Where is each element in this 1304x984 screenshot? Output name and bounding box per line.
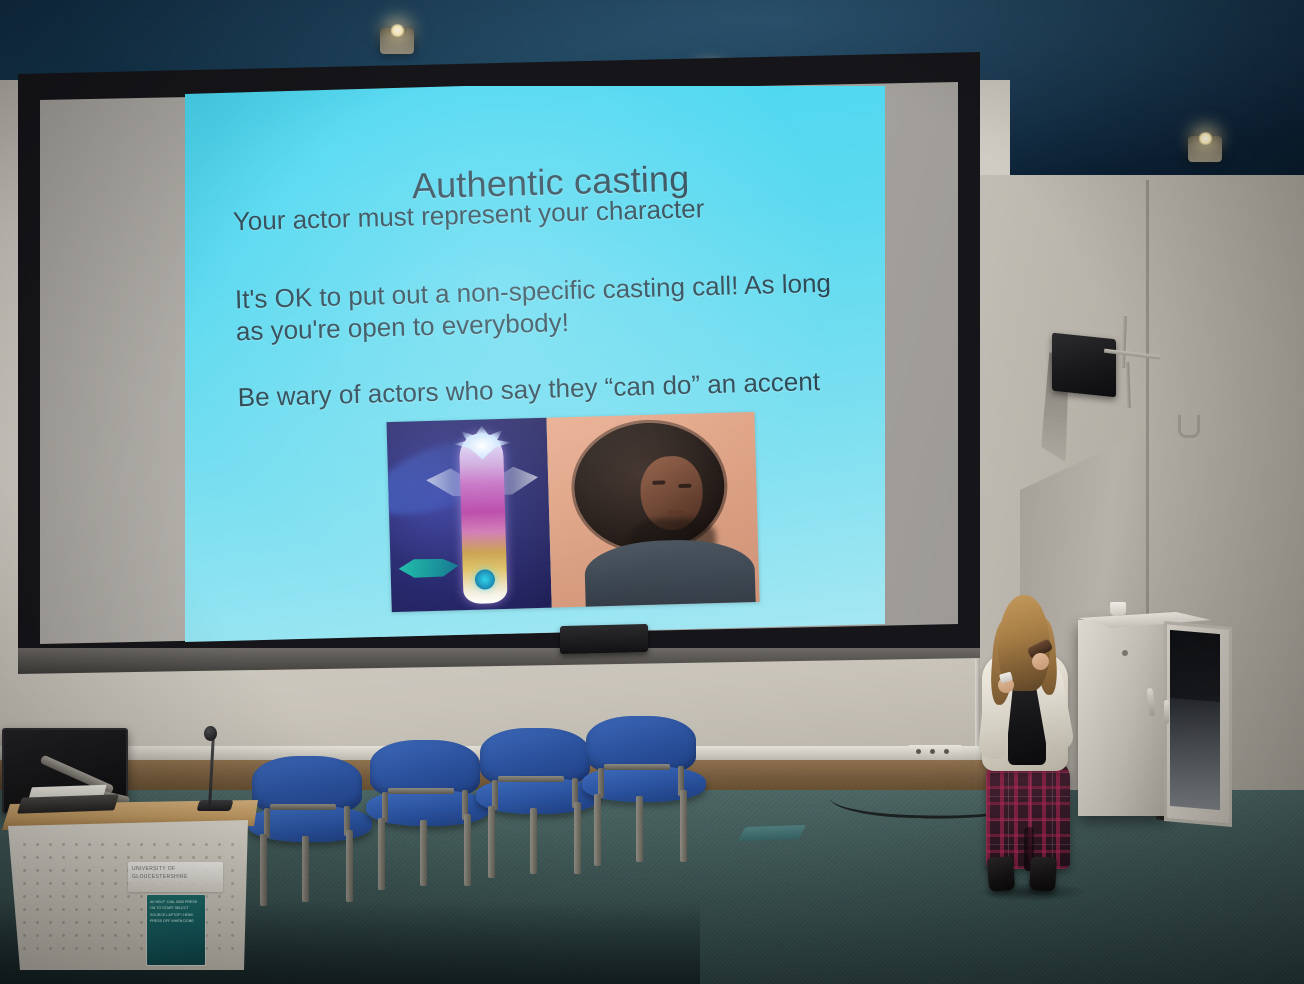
- screen-roller-housing: [560, 624, 648, 654]
- wall-socket: [908, 745, 962, 758]
- slide-image-pair: [387, 412, 760, 612]
- presenter-hand-right: [1032, 653, 1049, 670]
- wall-mounted-speaker: [1052, 333, 1116, 398]
- lecture-theatre-photo: Authentic casting Your actor must repres…: [0, 0, 1304, 984]
- presenter-boot-left: [987, 856, 1015, 892]
- slide-line-2: It's OK to put out a non-specific castin…: [235, 267, 847, 348]
- presenter: [960, 595, 1090, 905]
- presenter-boot-right: [1029, 856, 1057, 891]
- floor-cable-plate: [738, 825, 807, 841]
- cabinet-lock-icon: [1122, 650, 1128, 656]
- actor-portrait-photo: [546, 412, 759, 608]
- cabinet-door-handle[interactable]: [1164, 700, 1169, 724]
- microphone-base: [196, 800, 233, 811]
- microphone-head-icon: [204, 726, 217, 741]
- cabinet-glass-panel: [1170, 630, 1220, 810]
- university-plaque: UNIVERSITY OF GLOUCESTERSHIRE: [128, 862, 223, 892]
- game-character-artwork: [387, 418, 552, 612]
- lecture-podium: [8, 820, 248, 970]
- slide-line-3: Be wary of actors who say they “can do” …: [237, 366, 838, 415]
- wall-hook-icon: [1178, 415, 1200, 438]
- projected-slide: Authentic casting Your actor must repres…: [185, 86, 885, 646]
- spotlight-icon-4: [1188, 132, 1222, 162]
- cup-on-cabinet: [1110, 602, 1126, 616]
- spotlight-icon-1: [380, 24, 414, 54]
- av-instruction-label: AV HELP· DIAL 0000 PRESS ON TO START SEL…: [146, 894, 206, 966]
